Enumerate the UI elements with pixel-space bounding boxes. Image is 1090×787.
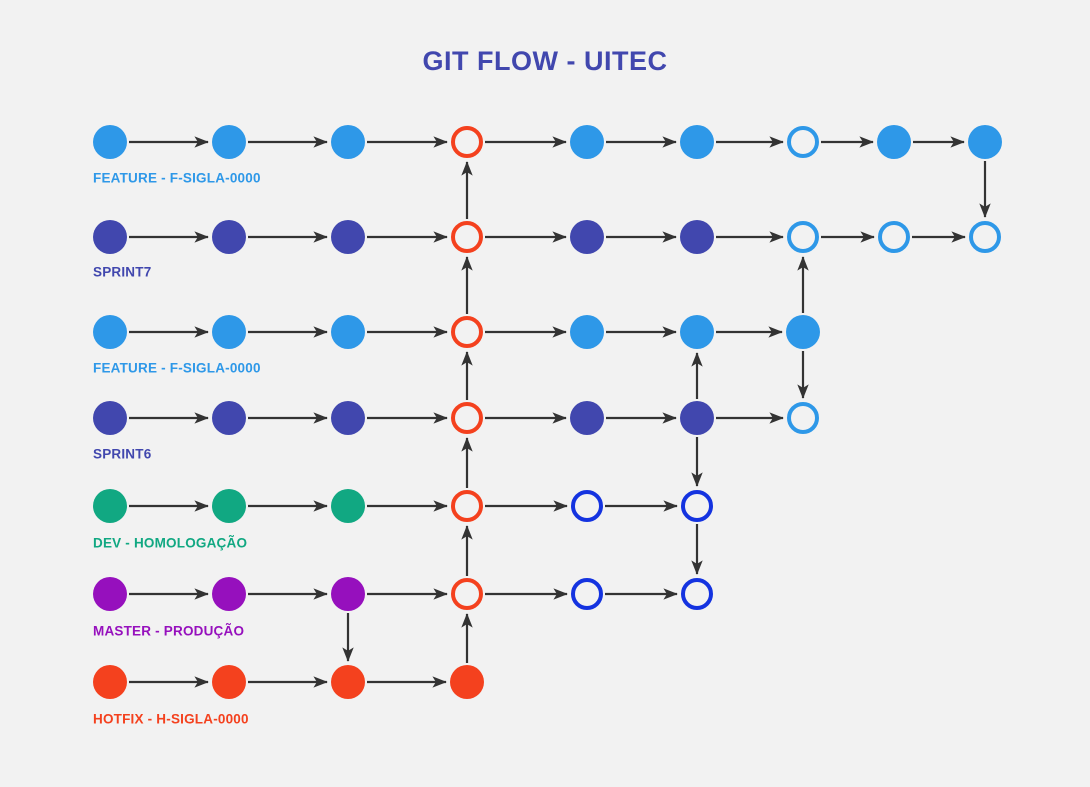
commit-node-sprint6-2[interactable] <box>331 401 365 435</box>
commit-node-hotfix-1[interactable] <box>212 665 246 699</box>
commit-node-feature-top-4[interactable] <box>570 125 604 159</box>
commit-node-dev-4[interactable] <box>571 490 603 522</box>
branch-label-feature-mid: FEATURE - F-SIGLA-0000 <box>93 361 261 376</box>
commit-node-feature-mid-4[interactable] <box>570 315 604 349</box>
commit-node-sprint7-0[interactable] <box>93 220 127 254</box>
branch-label-dev: DEV - HOMOLOGAÇÃO <box>93 536 247 551</box>
commit-node-feature-top-3[interactable] <box>451 126 483 158</box>
commit-node-feature-top-6[interactable] <box>787 126 819 158</box>
commit-node-feature-top-8[interactable] <box>968 125 1002 159</box>
commit-node-feature-top-7[interactable] <box>877 125 911 159</box>
commit-node-sprint6-3[interactable] <box>451 402 483 434</box>
commit-node-master-5[interactable] <box>681 578 713 610</box>
diagram-canvas: GIT FLOW - UITEC FEATURE - F-SIGLA-0000S… <box>0 0 1090 787</box>
commit-node-feature-top-1[interactable] <box>212 125 246 159</box>
commit-node-sprint7-2[interactable] <box>331 220 365 254</box>
commit-node-master-3[interactable] <box>451 578 483 610</box>
commit-node-feature-mid-2[interactable] <box>331 315 365 349</box>
commit-node-feature-mid-6[interactable] <box>786 315 820 349</box>
commit-node-sprint7-3[interactable] <box>451 221 483 253</box>
commit-node-dev-2[interactable] <box>331 489 365 523</box>
branch-label-sprint6: SPRINT6 <box>93 447 151 462</box>
commit-node-sprint7-5[interactable] <box>680 220 714 254</box>
git-flow-graph <box>0 0 1090 787</box>
commit-node-master-1[interactable] <box>212 577 246 611</box>
branch-label-sprint7: SPRINT7 <box>93 265 151 280</box>
branch-label-feature-top: FEATURE - F-SIGLA-0000 <box>93 171 261 186</box>
commit-node-master-4[interactable] <box>571 578 603 610</box>
commit-node-sprint6-1[interactable] <box>212 401 246 435</box>
commit-node-feature-mid-1[interactable] <box>212 315 246 349</box>
commit-node-dev-0[interactable] <box>93 489 127 523</box>
commit-node-feature-top-2[interactable] <box>331 125 365 159</box>
commit-node-master-0[interactable] <box>93 577 127 611</box>
commit-node-dev-3[interactable] <box>451 490 483 522</box>
commit-node-hotfix-2[interactable] <box>331 665 365 699</box>
commit-node-sprint6-0[interactable] <box>93 401 127 435</box>
commit-node-sprint7-4[interactable] <box>570 220 604 254</box>
commit-node-sprint6-4[interactable] <box>570 401 604 435</box>
commit-node-feature-mid-5[interactable] <box>680 315 714 349</box>
commit-node-feature-top-5[interactable] <box>680 125 714 159</box>
commit-node-dev-1[interactable] <box>212 489 246 523</box>
commit-node-feature-top-0[interactable] <box>93 125 127 159</box>
commit-node-sprint7-8[interactable] <box>969 221 1001 253</box>
commit-node-feature-mid-3[interactable] <box>451 316 483 348</box>
edge-layer <box>129 142 985 682</box>
commit-node-dev-5[interactable] <box>681 490 713 522</box>
commit-node-sprint6-5[interactable] <box>680 401 714 435</box>
commit-node-hotfix-0[interactable] <box>93 665 127 699</box>
commit-node-sprint7-1[interactable] <box>212 220 246 254</box>
commit-node-master-2[interactable] <box>331 577 365 611</box>
commit-node-feature-mid-0[interactable] <box>93 315 127 349</box>
branch-label-master: MASTER - PRODUÇÃO <box>93 624 244 639</box>
commit-node-sprint7-7[interactable] <box>878 221 910 253</box>
commit-node-sprint6-6[interactable] <box>787 402 819 434</box>
commit-node-sprint7-6[interactable] <box>787 221 819 253</box>
branch-label-hotfix: HOTFIX - H-SIGLA-0000 <box>93 712 249 727</box>
commit-node-hotfix-3[interactable] <box>450 665 484 699</box>
